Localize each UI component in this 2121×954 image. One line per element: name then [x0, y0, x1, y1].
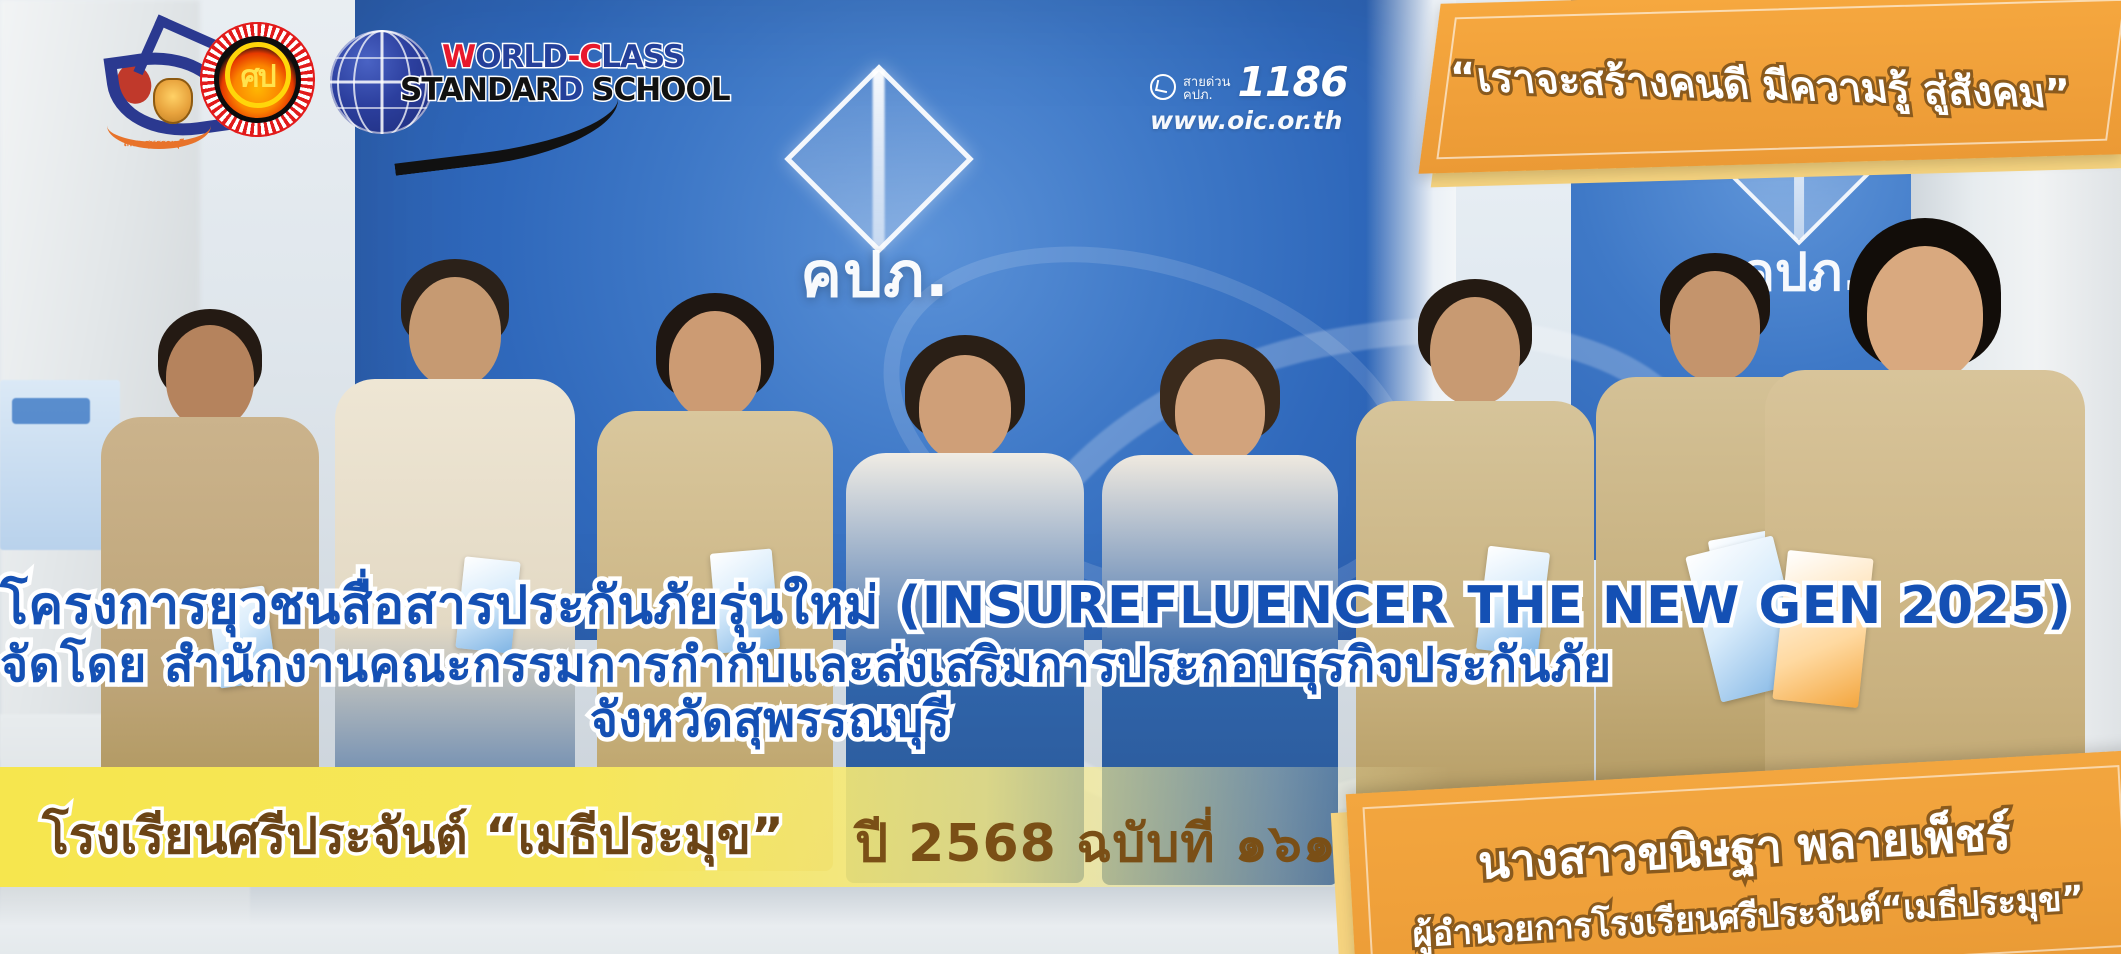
newsletter-poster: คปภ. คปภ. สายด่วน คปภ. 1186 www.oic.or.t… — [0, 0, 2121, 954]
wcss-wordmark: WORLD-CLASS STANDARD SCHOOL — [442, 42, 622, 106]
world-class-standard-school-logo: WORLD-CLASS STANDARD SCHOOL — [330, 28, 620, 138]
hotline-agency-text: คปภ. — [1183, 88, 1213, 103]
wcss-line-1: WORLD-CLASS — [442, 42, 622, 73]
headline-line-1: โครงการยุวชนสื่อสารประกันภัยรุ่นใหม่ (IN… — [0, 580, 1540, 633]
wcss-line-2: STANDARD SCHOOL — [400, 75, 622, 106]
oic-hotline-block: สายด่วน คปภ. 1186 www.oic.or.th — [1150, 62, 1348, 133]
headline-block: โครงการยุวชนสื่อสารประกันภัยรุ่นใหม่ (IN… — [0, 580, 1540, 745]
wcss-lass: LASS — [601, 39, 684, 75]
logo-row: สพม.สุพรรณบุรี ศป WORLD-CLASS STANDARD S… — [0, 0, 860, 180]
spm-suphanburi-logo: สพม.สุพรรณบุรี — [95, 16, 215, 156]
wcss-tandar: TANDAR — [421, 72, 557, 108]
wcss-c: -C — [568, 39, 602, 75]
wcss-s: S — [400, 72, 421, 108]
wcss-w: W — [442, 39, 475, 75]
globe-parallel — [330, 57, 434, 59]
person-head — [1670, 271, 1760, 381]
person-head — [1867, 246, 1983, 382]
oic-website: www.oic.or.th — [1150, 108, 1348, 133]
person-head — [919, 355, 1011, 461]
person-head — [166, 325, 254, 429]
person-head — [1430, 297, 1520, 405]
footer-school-name: โรงเรียนศรีประจันต์ “เมธีประมุข” — [42, 797, 784, 876]
school-seal-logo: ศป — [200, 22, 315, 137]
headline-line-2: จัดโดย สำนักงานคณะกรรมการกำกับและส่งเสริ… — [0, 641, 1540, 690]
wcss-d2: D — [558, 72, 583, 108]
footer-issue-number: ปี 2568 ฉบับที่ ๑๖๑ — [855, 801, 1337, 884]
motto-text: “เราจะสร้างคนดี มีความรู้ สู่สังคม” — [1429, 0, 2094, 179]
hotline-number: 1186 — [1237, 62, 1347, 103]
headline-line-3: จังหวัดสุพรรณบุรี — [0, 696, 1540, 745]
wcss-d: D — [542, 39, 567, 75]
wcss-orl: ORL — [475, 39, 542, 75]
person-head — [1175, 359, 1265, 463]
person-head — [669, 311, 761, 419]
wcss-school: SCHOOL — [582, 72, 729, 108]
spm-caption: สพม.สุพรรณบุรี — [95, 136, 213, 150]
seal-monogram: ศป — [240, 54, 274, 101]
phone-icon — [1150, 74, 1176, 100]
person-head — [409, 277, 501, 387]
warrior-on-elephant-icon — [101, 20, 209, 132]
hotline-label: สายด่วน คปภ. — [1183, 76, 1230, 103]
